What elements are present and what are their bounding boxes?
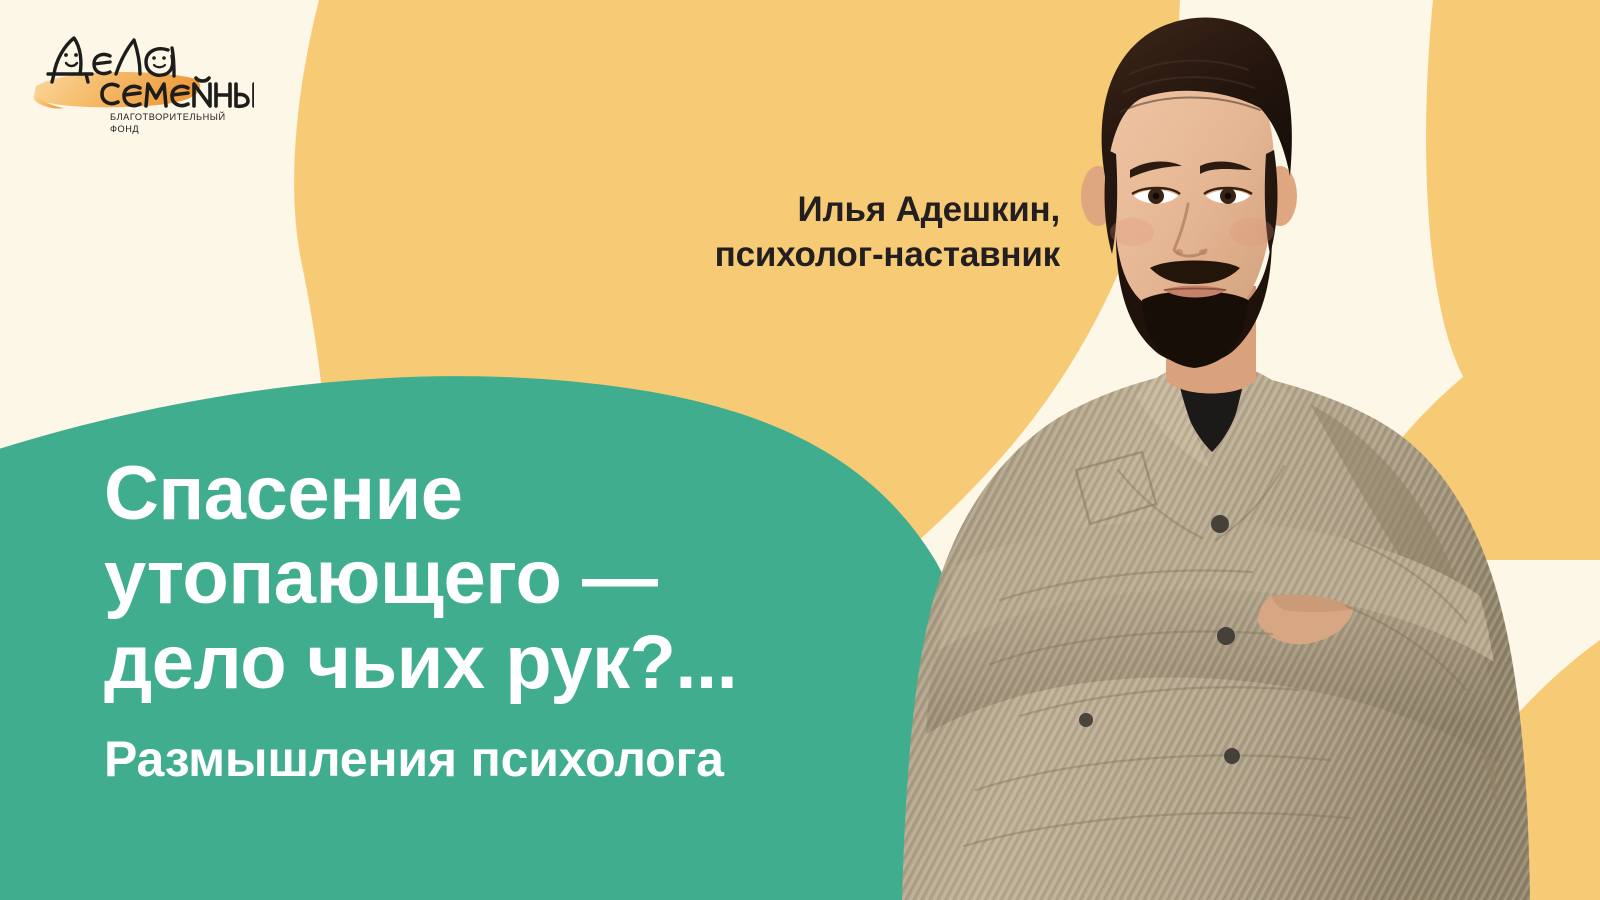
- logo-tagline-line1: БЛАГОТВОРИТЕЛЬНЫЙ: [110, 111, 226, 122]
- speaker-name: Илья Адешкин,: [360, 188, 1060, 233]
- logo-tagline-line2: ФОНД: [110, 124, 139, 134]
- speaker-caption: Илья Адешкин, психолог-наставник: [360, 188, 1060, 278]
- brand-logo[interactable]: БЛАГОТВОРИТЕЛЬНЫЙ ФОНД: [24, 22, 254, 134]
- speaker-role: психолог-наставник: [360, 233, 1060, 278]
- headline-block: Спасение утопающего — дело чьих рук?... …: [104, 452, 894, 788]
- page-subtitle: Размышления психолога: [104, 731, 894, 788]
- page-title: Спасение утопающего — дело чьих рук?...: [104, 452, 894, 705]
- cover-banner: БЛАГОТВОРИТЕЛЬНЫЙ ФОНД Илья Адешкин, пси…: [0, 0, 1600, 900]
